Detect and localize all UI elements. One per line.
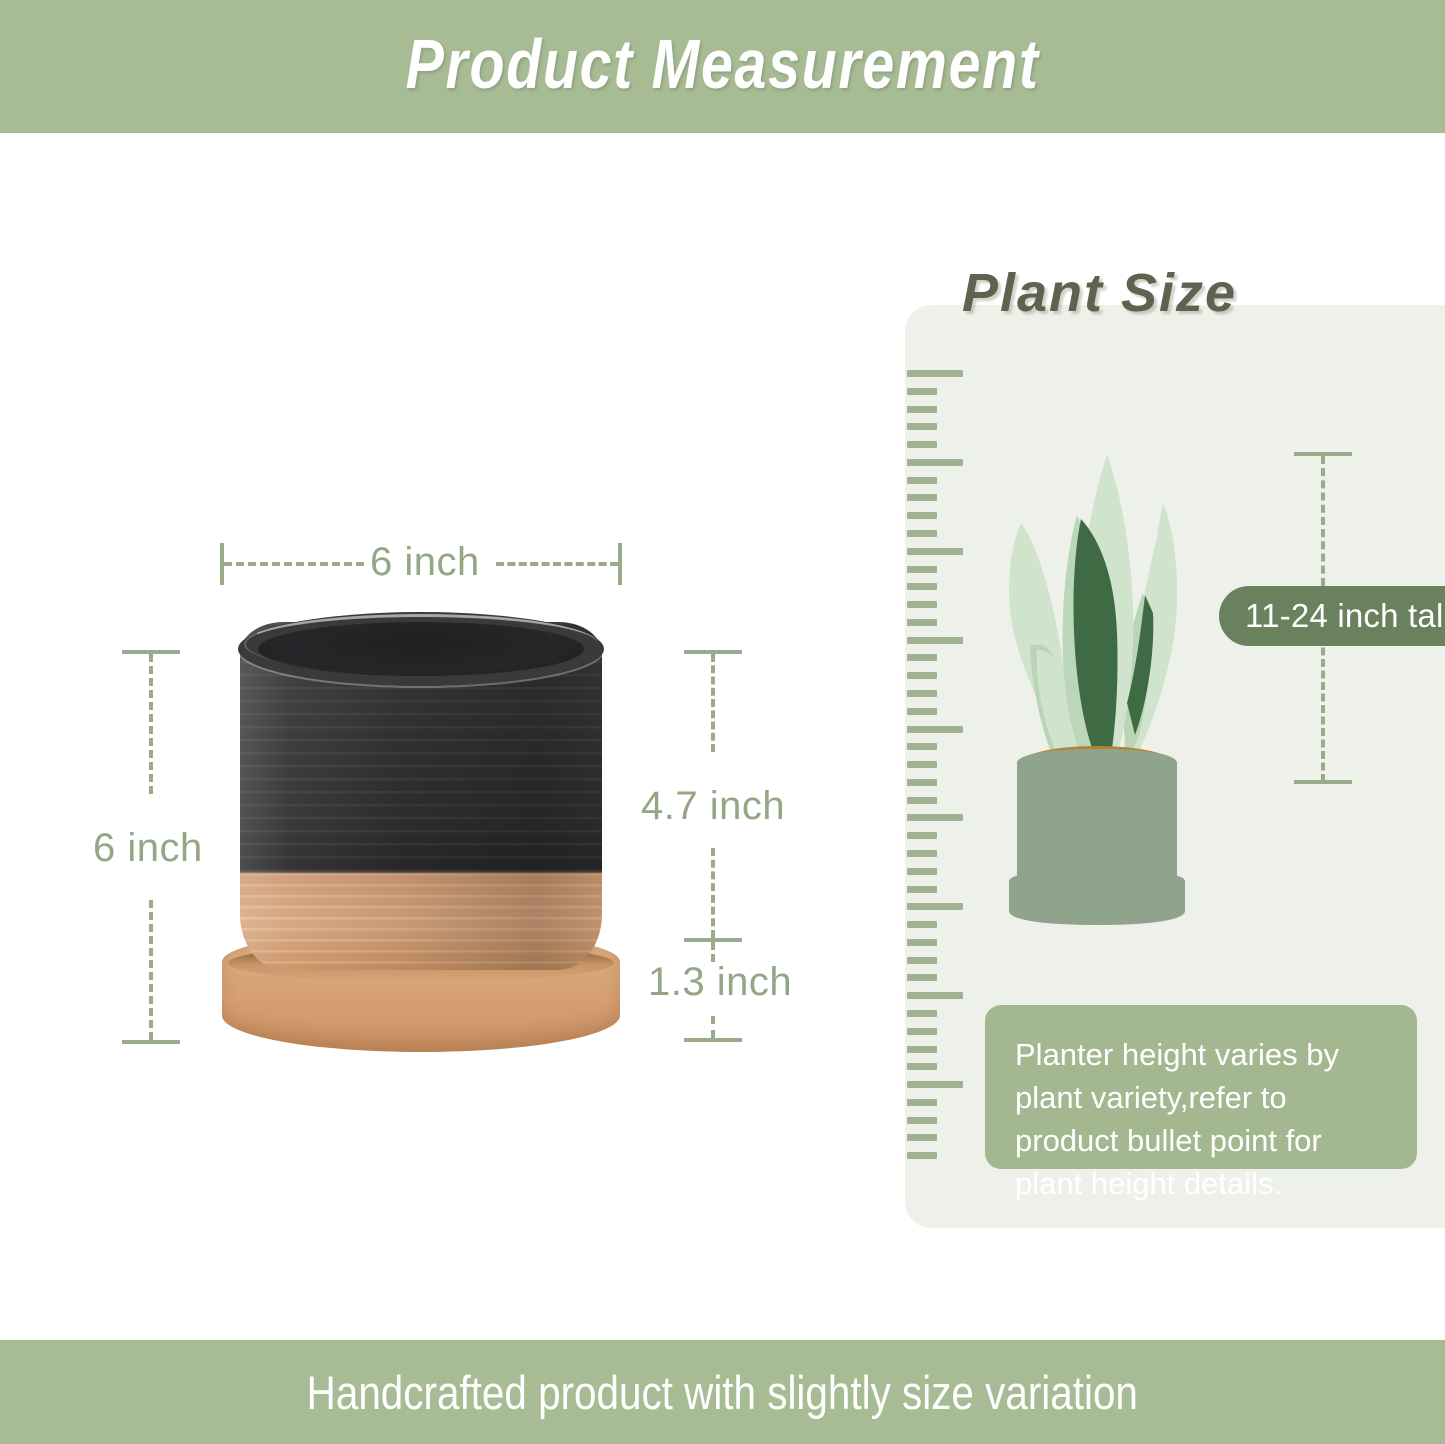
height-dim-cap-bottom xyxy=(122,1040,180,1044)
ruler-tick-major xyxy=(907,459,963,466)
page-title: Product Measurement xyxy=(405,24,1039,110)
snake-plant-illustration xyxy=(985,445,1210,935)
body-height-label: 4.7 inch xyxy=(641,784,785,829)
body-height-line-upper xyxy=(711,654,715,752)
ruler-tick-minor xyxy=(907,406,937,413)
height-dimension-label: 6 inch xyxy=(93,826,203,871)
ruler-tick-minor xyxy=(907,423,937,430)
ruler-tick-major xyxy=(907,370,963,377)
width-dim-cap-right xyxy=(618,543,622,585)
ruler-tick-major xyxy=(907,1081,963,1088)
ruler-tick-minor xyxy=(907,1010,937,1017)
bottom-banner: Handcrafted product with slightly size v… xyxy=(0,1340,1445,1444)
planter-rim-highlight xyxy=(244,614,598,674)
ruler-tick-minor xyxy=(907,477,937,484)
top-banner: Product Measurement xyxy=(0,0,1445,133)
ruler-tick-minor xyxy=(907,974,937,981)
ruler-tick-minor xyxy=(907,1046,937,1053)
saucer-height-line-lower xyxy=(711,1016,715,1038)
ruler-tick-minor xyxy=(907,690,937,697)
ruler-tick-minor xyxy=(907,583,937,590)
planter-product-photo xyxy=(222,612,620,1052)
ruler-tick-minor xyxy=(907,566,937,573)
ruler-tick-minor xyxy=(907,850,937,857)
ruler-tick-minor xyxy=(907,1028,937,1035)
ruler-tick-minor xyxy=(907,939,937,946)
height-dim-line-upper xyxy=(149,654,153,794)
ruler-tick-minor xyxy=(907,761,937,768)
plant-height-note-text: Planter height varies by plant variety,r… xyxy=(1015,1033,1387,1205)
ruler-tick-minor xyxy=(907,601,937,608)
plant-height-cap-bottom xyxy=(1294,780,1352,784)
ruler-tick-minor xyxy=(907,708,937,715)
ruler-tick-major xyxy=(907,637,963,644)
plant-size-title: Plant Size xyxy=(962,262,1237,324)
ruler-tick-minor xyxy=(907,619,937,626)
footer-text: Handcrafted product with slightly size v… xyxy=(307,1365,1138,1420)
infographic-canvas: Product Measurement 6 inch 6 inch 4.7 in… xyxy=(0,0,1445,1444)
ruler-tick-minor xyxy=(907,530,937,537)
ruler-tick-minor xyxy=(907,1099,937,1106)
ruler-tick-minor xyxy=(907,779,937,786)
ruler-tick-minor xyxy=(907,1152,937,1159)
ruler-tick-major xyxy=(907,992,963,999)
vertical-ruler-icon xyxy=(907,370,967,1170)
ruler-tick-minor xyxy=(907,886,937,893)
saucer-height-label: 1.3 inch xyxy=(648,960,792,1005)
ruler-tick-minor xyxy=(907,1134,937,1141)
width-dimension-label: 6 inch xyxy=(370,540,480,585)
ruler-tick-major xyxy=(907,548,963,555)
ruler-tick-minor xyxy=(907,743,937,750)
ruler-tick-major xyxy=(907,903,963,910)
width-dim-line-left xyxy=(224,562,364,566)
height-dim-line-lower xyxy=(149,900,153,1040)
saucer-height-cap-bottom xyxy=(684,1038,742,1042)
saucer-height-line-upper xyxy=(711,942,715,962)
plant-height-badge: 11-24 inch tall xyxy=(1219,586,1445,646)
plant-height-line-upper xyxy=(1321,456,1325,598)
plant-height-note-box: Planter height varies by plant variety,r… xyxy=(985,1005,1417,1169)
ruler-tick-minor xyxy=(907,654,937,661)
ruler-tick-minor xyxy=(907,388,937,395)
body-height-line-lower xyxy=(711,848,715,938)
ruler-tick-minor xyxy=(907,832,937,839)
ruler-tick-minor xyxy=(907,797,937,804)
width-dim-line-right xyxy=(496,562,618,566)
ruler-tick-minor xyxy=(907,494,937,501)
ruler-tick-minor xyxy=(907,921,937,928)
ruler-tick-minor xyxy=(907,441,937,448)
ruler-tick-minor xyxy=(907,957,937,964)
ruler-tick-major xyxy=(907,814,963,821)
ruler-tick-minor xyxy=(907,1117,937,1124)
ruler-tick-minor xyxy=(907,868,937,875)
ruler-tick-major xyxy=(907,726,963,733)
ruler-tick-minor xyxy=(907,512,937,519)
ruler-tick-minor xyxy=(907,672,937,679)
ruler-tick-minor xyxy=(907,1063,937,1070)
plant-height-line-lower xyxy=(1321,636,1325,782)
